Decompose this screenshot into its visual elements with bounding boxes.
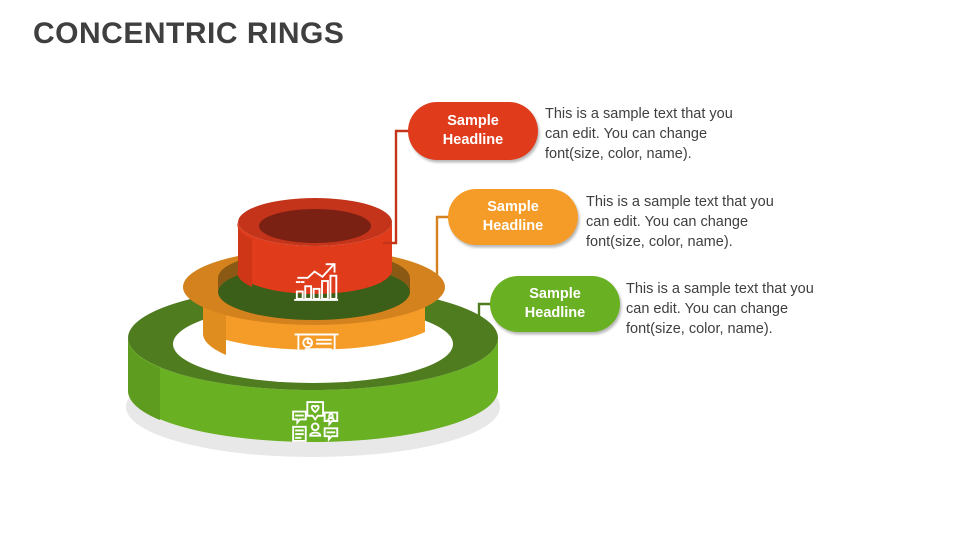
callout-pill-2[interactable]: Sample Headline [448, 189, 578, 245]
callout-headline-3: Sample Headline [525, 285, 585, 323]
red-ring-hole [259, 209, 371, 243]
callout-headline-2-line2: Headline [483, 217, 543, 236]
callout-pill-1[interactable]: Sample Headline [408, 102, 538, 160]
callout-description-1: This is a sample text that you can edit.… [545, 104, 750, 164]
callout-headline-1: Sample Headline [443, 112, 503, 150]
callout-headline-3-line1: Sample [525, 285, 585, 304]
callout-headline-3-line2: Headline [525, 304, 585, 323]
callout-headline-2-line1: Sample [483, 198, 543, 217]
concentric-rings-diagram [0, 0, 960, 540]
callout-headline-2: Sample Headline [483, 198, 543, 236]
callout-description-2: This is a sample text that you can edit.… [586, 192, 791, 252]
slide-canvas: CONCENTRIC RINGS [0, 0, 960, 540]
callout-description-3: This is a sample text that you can edit.… [626, 279, 831, 339]
callout-headline-1-line2: Headline [443, 131, 503, 150]
ring-inner-red[interactable] [237, 198, 392, 294]
callout-headline-1-line1: Sample [443, 112, 503, 131]
callout-pill-3[interactable]: Sample Headline [490, 276, 620, 332]
